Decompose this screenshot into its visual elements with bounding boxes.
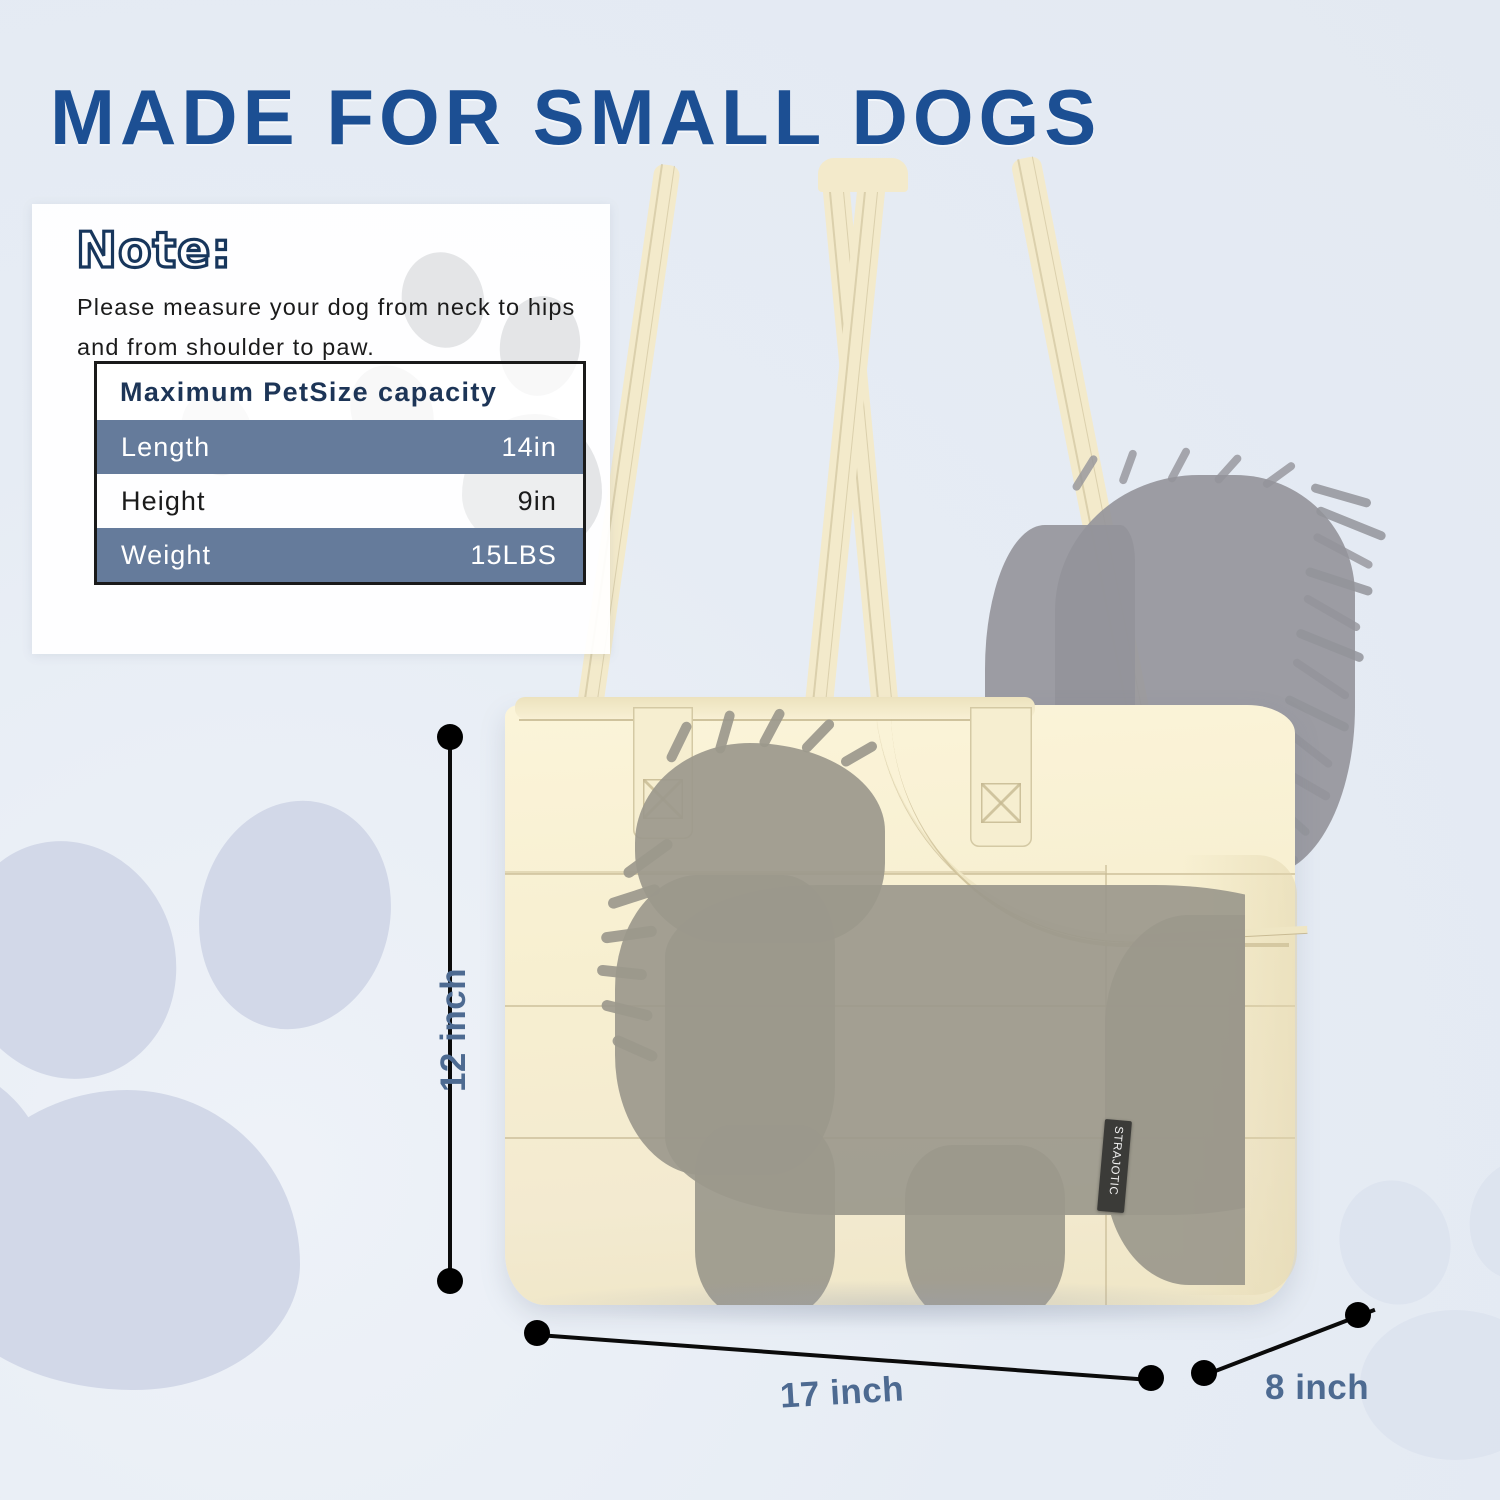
row-label: Length (121, 432, 210, 463)
table-header-label: Maximum PetSize capacity (120, 377, 497, 408)
dimension-endpoint-depth-right (1345, 1302, 1371, 1328)
bag-handle-top-knot (818, 158, 908, 192)
dimension-endpoint-height-top (437, 724, 463, 750)
row-label: Height (121, 486, 206, 517)
bag-ground-shadow (520, 1280, 1280, 1328)
table-header-row: Maximum PetSize capacity (97, 364, 583, 420)
pet-size-capacity-table: Maximum PetSize capacity Length 14in Hei… (94, 361, 586, 585)
table-row: Weight 15LBS (97, 528, 583, 582)
dimension-label-width: 17 inch (779, 1369, 905, 1416)
dimension-label-height: 12 inch (434, 968, 474, 1092)
row-value: 14in (502, 432, 557, 463)
note-heading: Note: (76, 222, 232, 279)
dimension-endpoint-height-bottom (437, 1268, 463, 1294)
dog-shadow-on-bag (545, 705, 1245, 1305)
table-row: Height 9in (97, 474, 583, 528)
row-label: Weight (121, 540, 211, 571)
row-value: 15LBS (470, 540, 557, 571)
brand-label-text: STRAJOTIC (1106, 1126, 1124, 1196)
dimension-endpoint-width-left (524, 1320, 550, 1346)
table-row: Length 14in (97, 420, 583, 474)
note-body-text: Please measure your dog from neck to hip… (77, 287, 582, 367)
row-value: 9in (518, 486, 557, 517)
dimension-endpoint-width-right (1138, 1365, 1164, 1391)
note-card: Note: Please measure your dog from neck … (32, 204, 610, 654)
dimension-endpoint-depth-left (1191, 1360, 1217, 1386)
dimension-label-depth: 8 inch (1265, 1368, 1369, 1408)
pet-carrier-bag (505, 705, 1295, 1305)
infographic-canvas: MADE FOR SMALL DOGS (0, 0, 1500, 1500)
